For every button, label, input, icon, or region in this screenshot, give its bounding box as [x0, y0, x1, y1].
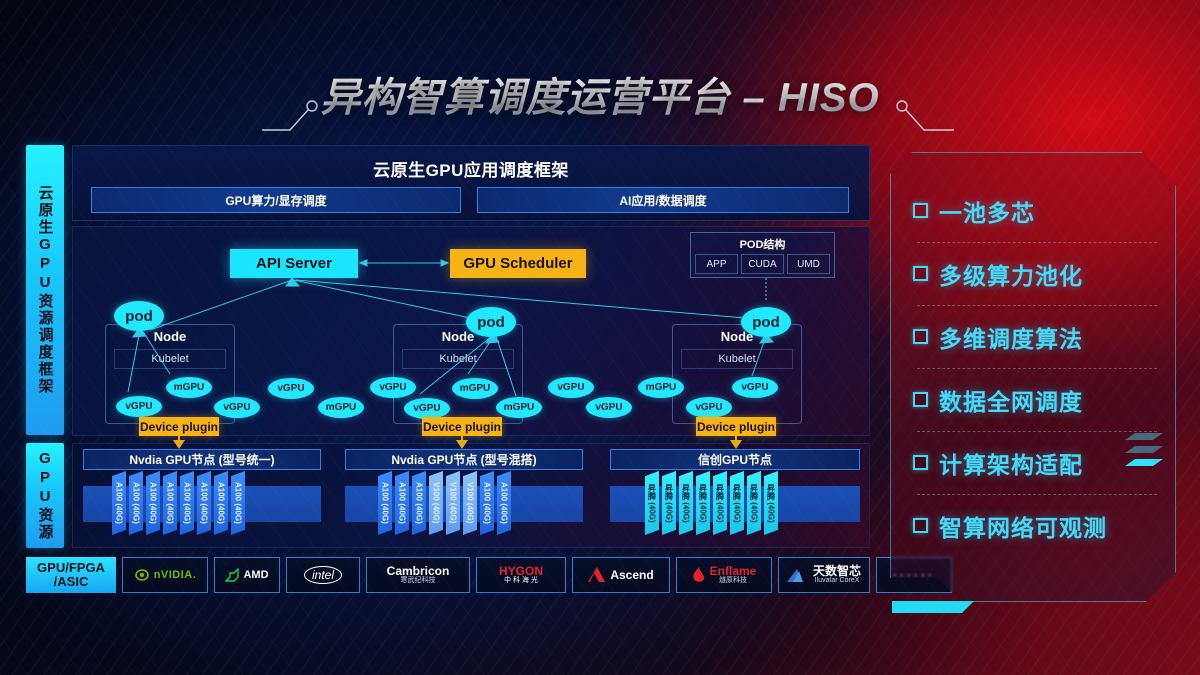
mgpu-instance[interactable]: mGPU [638, 377, 684, 398]
gpu-card-label: A100 (40G) [500, 482, 509, 524]
checkbox-square-icon [913, 266, 928, 281]
gpu-card[interactable]: 昇腾 (40G) [713, 471, 727, 535]
gpu-card[interactable]: A100 (40G) [197, 471, 211, 535]
framework-panel: 云原生GPU应用调度框架 GPU算力/显存调度 AI应用/数据调度 [72, 145, 870, 221]
gpu-card-label: 昇腾 (40G) [766, 484, 777, 523]
pod-structure-box: POD结构 APP CUDA UMD [690, 232, 835, 278]
pod-layer-cuda: CUDA [741, 254, 784, 274]
iluvatar-wing-icon [787, 567, 809, 583]
vendor-name: nVIDIA. [154, 570, 197, 581]
feature-label: 一池多芯 [939, 194, 1035, 228]
gpu-card-label: 昇腾 (40G) [732, 484, 743, 523]
gpu-card-label: 昇腾 (40G) [715, 484, 726, 523]
gpu-card-label: 昇腾 (40G) [681, 484, 692, 523]
gpu-card[interactable]: 昇腾 (40G) [696, 471, 710, 535]
ascend-mark-icon [588, 567, 606, 583]
device-plugin-button[interactable]: Device plugin [139, 417, 219, 436]
mgpu-instance[interactable]: mGPU [452, 378, 498, 399]
mgpu-instance[interactable]: mGPU [318, 397, 364, 418]
gpu-card[interactable]: A100 (40G) [214, 471, 228, 535]
feature-list: 一池多芯多级算力池化多维调度算法数据全网调度计算架构适配智算网络可观测 [913, 179, 1161, 557]
rail-label-framework: 云原生GPU资源调度框架 [26, 145, 64, 435]
gpu-group-title: Nvdia GPU节点 (型号混搭) [345, 449, 583, 470]
gpu-card[interactable]: A100 (40G) [231, 471, 245, 535]
vendor-name: Cambricon [387, 565, 450, 577]
node-title: Node [106, 329, 234, 344]
gpu-card-label: A100 (40G) [200, 482, 209, 524]
feature-label: 多维调度算法 [939, 320, 1083, 354]
pod-layer-umd: UMD [787, 254, 830, 274]
panel-corner-accent [892, 601, 974, 613]
gpu-card-label: 昇腾 (40G) [749, 484, 760, 523]
gpu-card-label: A100 (40G) [183, 482, 192, 524]
gpu-card[interactable]: 昇腾 (40G) [645, 471, 659, 535]
gpu-card[interactable]: A100 (40G) [112, 471, 126, 535]
ascend-logo[interactable]: Ascend [572, 557, 670, 593]
page-title: 异构智算调度运营平台 – HISO [0, 68, 1200, 128]
gpu-card[interactable]: 昇腾 (40G) [662, 471, 676, 535]
pod-structure-layers: APP CUDA UMD [695, 254, 830, 274]
vendor-name: Ascend [610, 569, 653, 581]
bar-gpu-compute-scheduling[interactable]: GPU算力/显存调度 [91, 187, 461, 213]
feature-panel: 一池多芯多级算力池化多维调度算法数据全网调度计算架构适配智算网络可观测 [890, 152, 1176, 602]
gpu-card[interactable]: 昇腾 (40G) [747, 471, 761, 535]
feature-label: 智算网络可观测 [939, 509, 1107, 543]
gpu-group-title: 信创GPU节点 [610, 449, 860, 470]
vendor-label-line1: GPU/FPGA [37, 561, 105, 575]
gpu-card-label: A100 (40G) [483, 482, 492, 524]
gpu-card[interactable]: 昇腾 (40G) [730, 471, 744, 535]
gpu-card[interactable]: A100 (40G) [412, 471, 426, 535]
gpu-card[interactable]: A100 (40G) [497, 471, 511, 535]
device-plugin-button[interactable]: Device plugin [422, 417, 502, 436]
gpu-card[interactable]: A100 (40G) [163, 471, 177, 535]
kubelet-box: Kubelet [681, 349, 793, 369]
gpu-scheduler-box[interactable]: GPU Scheduler [450, 249, 586, 278]
feature-item[interactable]: 智算网络可观测 [913, 494, 1161, 557]
checkbox-square-icon [913, 455, 928, 470]
pod-ellipse[interactable]: pod [741, 307, 791, 337]
enflame-flame-icon [692, 567, 706, 583]
vendor-label-line2: /ASIC [54, 575, 89, 589]
checkbox-square-icon [913, 203, 928, 218]
mgpu-instance[interactable]: mGPU [166, 377, 212, 398]
vgpu-instance[interactable]: vGPU [268, 378, 314, 399]
vendor-name: intel [304, 566, 342, 584]
rail-label-gpu-resource: GPU资源 [26, 443, 64, 548]
vgpu-instance[interactable]: vGPU [370, 377, 416, 398]
enflame-logo[interactable]: Enflame燧原科技 [676, 557, 772, 593]
gpu-card[interactable]: A100 (40G) [378, 471, 392, 535]
gpu-card-label: 昇腾 (40G) [664, 484, 675, 523]
vendor-name: AMD [243, 570, 268, 581]
vendor-subtitle: 寒武纪科技 [401, 577, 436, 585]
gpu-card-label: 昇腾 (40G) [647, 484, 658, 523]
amd-logo[interactable]: AMD [214, 557, 280, 593]
gpu-card[interactable]: 昇腾 (40G) [764, 471, 778, 535]
title-right-decoration [892, 98, 954, 134]
gpu-card-label: A100 (40G) [398, 482, 407, 524]
nvidia-eye-icon [134, 568, 150, 582]
iluvatar-logo[interactable]: 天数智芯Iluvatar CoreX [778, 557, 870, 593]
slide-canvas: 异构智算调度运营平台 – HISO 云原生GPU资源调度框架 GPU资源 云原生… [0, 0, 1200, 675]
feature-label: 计算架构适配 [939, 446, 1083, 480]
gpu-card-stack: 昇腾 (40G)昇腾 (40G)昇腾 (40G)昇腾 (40G)昇腾 (40G)… [645, 471, 778, 535]
gpu-card-label: V100 (40G) [466, 482, 475, 523]
checkbox-square-icon [913, 392, 928, 407]
vgpu-instance[interactable]: vGPU [548, 377, 594, 398]
vendor-name: 天数智芯 [813, 565, 861, 577]
gpu-card-label: A100 (40G) [217, 482, 226, 524]
device-plugin-button[interactable]: Device plugin [696, 417, 776, 436]
gpu-card-stack: A100 (40G)A100 (40G)A100 (40G)V100 (40G)… [378, 471, 511, 535]
gpu-card-label: A100 (40G) [149, 482, 158, 524]
vendor-subtitle: 中 科 海 光 [504, 577, 538, 585]
framework-panel-title: 云原生GPU应用调度框架 [73, 156, 869, 181]
gpu-card-label: A100 (40G) [115, 482, 124, 524]
amd-arrow-icon [225, 568, 239, 582]
intel-logo[interactable]: intel [286, 557, 360, 593]
vendor-category-label: GPU/FPGA /ASIC [26, 557, 116, 593]
feature-label: 数据全网调度 [939, 383, 1083, 417]
gpu-card[interactable]: V100 (40G) [429, 471, 443, 535]
gpu-card[interactable]: A100 (40G) [146, 471, 160, 535]
feature-item[interactable]: 一池多芯 [913, 179, 1161, 242]
gpu-card[interactable]: A100 (40G) [129, 471, 143, 535]
vendor-subtitle: 燧原科技 [719, 577, 747, 585]
vendor-name: Enflame [710, 565, 757, 577]
nvidia-logo[interactable]: nVIDIA. [122, 557, 208, 593]
kubelet-box: Kubelet [402, 349, 514, 369]
gpu-card[interactable]: 昇腾 (40G) [679, 471, 693, 535]
gpu-card[interactable]: A100 (40G) [395, 471, 409, 535]
gpu-card-label: A100 (40G) [381, 482, 390, 524]
pod-structure-title: POD结构 [691, 236, 834, 252]
vgpu-instance[interactable]: vGPU [214, 397, 260, 418]
mgpu-instance[interactable]: mGPU [496, 397, 542, 418]
cambricon-logo[interactable]: Cambricon寒武纪科技 [366, 557, 470, 593]
gpu-group-title: Nvdia GPU节点 (型号统一) [83, 449, 321, 470]
gpu-card-label: A100 (40G) [234, 482, 243, 524]
feature-item[interactable]: 数据全网调度 [913, 368, 1161, 431]
vendor-subtitle: Iluvatar CoreX [815, 577, 860, 585]
gpu-card-label: A100 (40G) [415, 482, 424, 524]
feature-item[interactable]: 计算架构适配 [913, 431, 1161, 494]
gpu-card[interactable]: A100 (40G) [480, 471, 494, 535]
gpu-card[interactable]: A100 (40G) [180, 471, 194, 535]
vgpu-instance[interactable]: vGPU [586, 397, 632, 418]
checkbox-square-icon [913, 518, 928, 533]
bar-ai-data-scheduling[interactable]: AI应用/数据调度 [477, 187, 849, 213]
gpu-card-label: V100 (40G) [449, 482, 458, 523]
feature-item[interactable]: 多维调度算法 [913, 305, 1161, 368]
hygon-logo[interactable]: HYGON中 科 海 光 [476, 557, 566, 593]
gpu-card[interactable]: V100 (40G) [463, 471, 477, 535]
vgpu-instance[interactable]: vGPU [732, 377, 778, 398]
checkbox-square-icon [913, 329, 928, 344]
gpu-card-stack: A100 (40G)A100 (40G)A100 (40G)A100 (40G)… [112, 471, 245, 535]
feature-item[interactable]: 多级算力池化 [913, 242, 1161, 305]
vgpu-instance[interactable]: vGPU [404, 398, 450, 419]
gpu-card-label: 昇腾 (40G) [698, 484, 709, 523]
kubelet-box: Kubelet [114, 349, 226, 369]
pod-ellipse[interactable]: pod [466, 307, 516, 337]
gpu-card-label: A100 (40G) [166, 482, 175, 524]
vendor-logo-row: GPU/FPGA /ASIC nVIDIA.AMDintelCambricon寒… [26, 557, 952, 593]
gpu-card-label: V100 (40G) [432, 482, 441, 523]
gpu-card[interactable]: V100 (40G) [446, 471, 460, 535]
feature-label: 多级算力池化 [939, 257, 1083, 291]
vgpu-instance[interactable]: vGPU [686, 397, 732, 418]
vgpu-instance[interactable]: vGPU [116, 396, 162, 417]
pod-layer-app: APP [695, 254, 738, 274]
api-server-box[interactable]: API Server [230, 249, 358, 278]
gpu-card-label: A100 (40G) [132, 482, 141, 524]
vendor-name: HYGON [499, 565, 543, 577]
title-bar: 异构智算调度运营平台 – HISO [0, 68, 1200, 132]
pod-ellipse[interactable]: pod [114, 301, 164, 331]
